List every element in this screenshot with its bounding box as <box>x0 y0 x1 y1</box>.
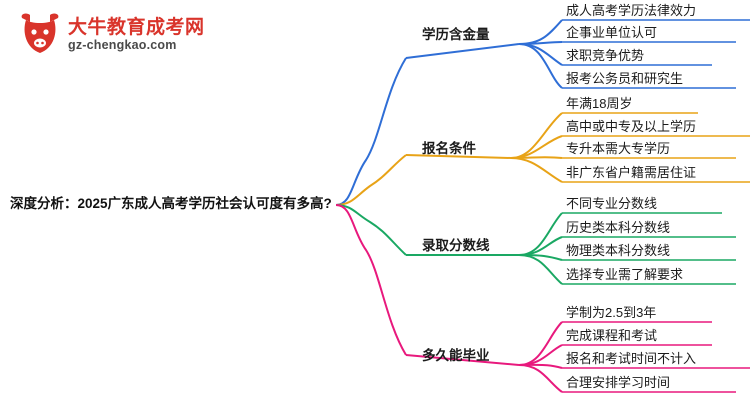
logo-brand-text: 大牛教育成考网 <box>68 12 205 39</box>
link-root-to-branch-0 <box>336 58 406 205</box>
link-branch-3-leaf-3 <box>519 365 562 392</box>
leaf-0-3[interactable]: 报考公务员和研究生 <box>566 71 683 87</box>
leaf-3-0[interactable]: 学制为2.5到3年 <box>566 305 656 321</box>
link-branch-0-leaf-3 <box>519 44 562 88</box>
leaf-3-1[interactable]: 完成课程和考试 <box>566 328 657 344</box>
link-branch-3-leaf-2 <box>519 365 562 368</box>
leaf-1-3[interactable]: 非广东省户籍需居住证 <box>566 165 696 181</box>
link-branch-2-leaf-0 <box>519 213 562 255</box>
link-root-to-branch-1 <box>336 155 406 205</box>
link-branch-2-leaf-1 <box>519 237 562 255</box>
link-root-to-branch-2 <box>336 205 406 255</box>
leaf-0-1[interactable]: 企事业单位认可 <box>566 25 657 41</box>
underline-branch-0 <box>406 44 519 58</box>
link-branch-1-leaf-3 <box>511 158 562 182</box>
leaf-3-3[interactable]: 合理安排学习时间 <box>566 375 670 391</box>
leaf-2-1[interactable]: 历史类本科分数线 <box>566 220 670 236</box>
link-branch-3-leaf-1 <box>519 345 562 365</box>
link-branch-2-leaf-2 <box>519 255 562 260</box>
branch-label-0[interactable]: 学历含金量 <box>422 27 490 43</box>
leaf-1-0[interactable]: 年满18周岁 <box>566 96 632 112</box>
logo-url-text: gz-chengkao.com <box>68 38 177 52</box>
mindmap-root-label[interactable]: 深度分析：2025广东成人高考学历社会认可度有多高? <box>10 196 332 212</box>
branch-label-3[interactable]: 多久能毕业 <box>422 348 490 364</box>
branch-label-2[interactable]: 录取分数线 <box>422 238 490 254</box>
link-branch-1-leaf-1 <box>511 136 562 158</box>
leaf-2-2[interactable]: 物理类本科分数线 <box>566 243 670 259</box>
link-branch-1-leaf-2 <box>511 157 562 158</box>
mindmap-canvas: 大牛教育成考网 gz-chengkao.com <box>0 0 750 410</box>
link-branch-3-leaf-0 <box>519 322 562 365</box>
leaf-1-2[interactable]: 专升本需大专学历 <box>566 141 670 157</box>
leaf-2-3[interactable]: 选择专业需了解要求 <box>566 267 683 283</box>
leaf-3-2[interactable]: 报名和考试时间不计入 <box>566 351 696 367</box>
link-branch-0-leaf-1 <box>519 42 562 44</box>
link-branch-1-leaf-0 <box>511 113 562 158</box>
leaf-0-2[interactable]: 求职竞争优势 <box>566 48 644 64</box>
site-logo: 大牛教育成考网 gz-chengkao.com <box>18 10 198 60</box>
leaf-0-0[interactable]: 成人高考学历法律效力 <box>566 3 696 19</box>
link-branch-2-leaf-3 <box>519 255 562 284</box>
link-root-to-branch-3 <box>336 205 406 355</box>
branch-label-1[interactable]: 报名条件 <box>422 141 476 157</box>
leaf-1-1[interactable]: 高中或中专及以上学历 <box>566 119 696 135</box>
bull-head-icon <box>18 10 62 56</box>
link-branch-0-leaf-0 <box>519 20 562 44</box>
leaf-2-0[interactable]: 不同专业分数线 <box>566 196 657 212</box>
link-branch-0-leaf-2 <box>519 44 562 65</box>
